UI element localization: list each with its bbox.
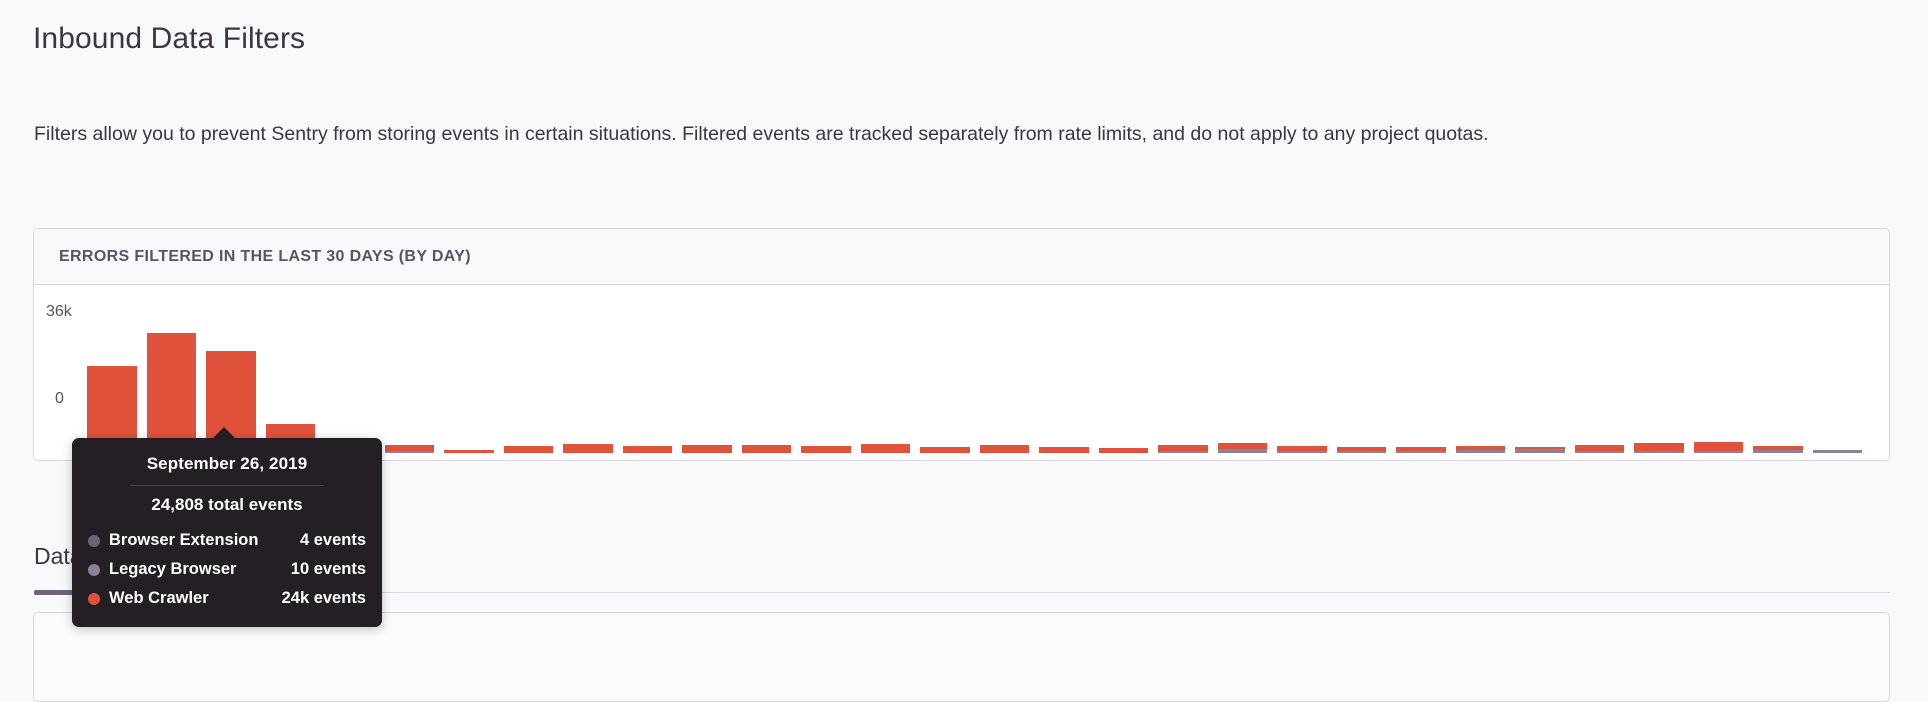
bar-segment (980, 445, 1030, 453)
bar-segment (444, 450, 494, 453)
bar-column[interactable] (142, 311, 202, 453)
tooltip-series-value: 10 events (291, 560, 366, 579)
bar-segment (1753, 450, 1803, 453)
bar-column[interactable] (380, 311, 440, 453)
tooltip-series-rows: Browser Extension4 eventsLegacy Browser1… (72, 526, 382, 613)
bar-column[interactable] (1094, 311, 1154, 453)
errors-filtered-chart-card: ERRORS FILTERED IN THE LAST 30 DAYS (BY … (33, 228, 1890, 461)
bar-column[interactable] (915, 311, 975, 453)
bar-column[interactable] (1391, 311, 1451, 453)
bar-column[interactable] (796, 311, 856, 453)
bar-column[interactable] (1689, 311, 1749, 453)
bar-column[interactable] (1272, 311, 1332, 453)
bar-segment (1158, 451, 1208, 453)
tooltip-caret-icon (212, 427, 236, 439)
bar-segment (1099, 448, 1149, 453)
bar-segment (1039, 447, 1089, 453)
tooltip-row: Browser Extension4 events (88, 526, 366, 555)
bar-segment (1634, 451, 1684, 453)
tooltip-total: 24,808 total events (151, 495, 302, 514)
bar-column[interactable] (82, 311, 142, 453)
bar-column[interactable] (677, 311, 737, 453)
chart-tooltip: September 26, 2019 24,808 total events B… (72, 438, 382, 627)
bar-segment (1515, 449, 1565, 453)
tooltip-series-value: 24k events (282, 589, 366, 608)
y-axis-label-max: 36k (46, 303, 72, 321)
tooltip-date: September 26, 2019 (72, 454, 382, 485)
tooltip-total-wrap: 24,808 total events (130, 485, 324, 526)
bar-segment (623, 446, 673, 453)
bar-segment (1575, 451, 1625, 453)
tooltip-row: Legacy Browser10 events (88, 555, 366, 584)
bar-column[interactable] (261, 311, 321, 453)
bar-column[interactable] (320, 311, 380, 453)
bar-column[interactable] (558, 311, 618, 453)
bar-column[interactable] (1034, 311, 1094, 453)
bar-segment (504, 446, 554, 453)
bar-column[interactable] (1629, 311, 1689, 453)
bar-segment (1634, 443, 1684, 451)
bar-segment (385, 451, 435, 453)
bar-column[interactable] (1213, 311, 1273, 453)
bar-column[interactable] (1451, 311, 1511, 453)
bar-column[interactable] (618, 311, 678, 453)
bar-column[interactable] (1153, 311, 1213, 453)
bar-column[interactable] (1570, 311, 1630, 453)
chart-card-header: ERRORS FILTERED IN THE LAST 30 DAYS (BY … (34, 229, 1889, 285)
bar-segment (563, 444, 613, 453)
bar-segment (1694, 442, 1744, 451)
chart-card-header-label: ERRORS FILTERED IN THE LAST 30 DAYS (BY … (59, 248, 471, 266)
bar-segment (87, 366, 137, 449)
bar-column[interactable] (1748, 311, 1808, 453)
bar-segment (861, 444, 911, 453)
bar-column[interactable] (1808, 311, 1868, 453)
bar-group (82, 311, 1867, 453)
series-color-dot-icon (88, 593, 100, 605)
bar-column[interactable] (1332, 311, 1392, 453)
bar-segment (682, 445, 732, 453)
bar-segment (742, 445, 792, 453)
bar-segment (1218, 449, 1268, 453)
intro-paragraph: Filters allow you to prevent Sentry from… (34, 115, 1879, 153)
y-axis-label-min: 0 (55, 390, 64, 408)
tooltip-series-name: Web Crawler (109, 589, 209, 608)
bar-column[interactable] (439, 311, 499, 453)
series-color-dot-icon (88, 564, 100, 576)
series-color-dot-icon (88, 535, 100, 547)
bar-segment (1396, 451, 1446, 453)
bar-segment (1218, 443, 1268, 450)
bar-chart (82, 311, 1867, 453)
bar-segment (801, 446, 851, 453)
page-title: Inbound Data Filters (33, 22, 305, 56)
tooltip-row: Web Crawler24k events (88, 584, 366, 613)
bar-segment (1694, 451, 1744, 453)
bar-column[interactable] (499, 311, 559, 453)
tooltip-series-name: Browser Extension (109, 531, 258, 550)
tooltip-series-value: 4 events (300, 531, 366, 550)
bar-segment (1813, 450, 1863, 453)
bar-segment (1337, 451, 1387, 453)
bar-segment (920, 447, 970, 453)
bar-column[interactable] (856, 311, 916, 453)
bar-segment (1277, 451, 1327, 453)
page-root: Inbound Data Filters Filters allow you t… (0, 0, 1928, 648)
bar-segment (147, 333, 197, 449)
bar-segment (1456, 450, 1506, 453)
chart-plot-area: 36k 0 (34, 285, 1889, 461)
tooltip-series-name: Legacy Browser (109, 560, 236, 579)
bar-column[interactable] (1510, 311, 1570, 453)
bar-column[interactable] (737, 311, 797, 453)
bar-column[interactable] (975, 311, 1035, 453)
